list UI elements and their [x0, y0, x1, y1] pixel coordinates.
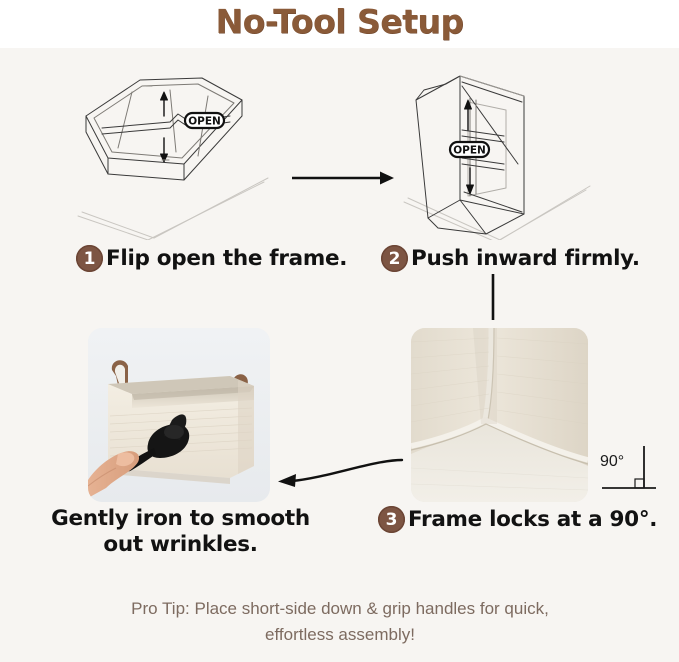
step-1-illustration: OPEN: [74, 72, 274, 245]
step-1-badge: 1: [76, 245, 103, 272]
iron-caption-line-1: Gently iron to smooth: [28, 506, 333, 532]
corner-photo: [411, 328, 588, 502]
iron-photo: [88, 328, 270, 502]
open-label-step-1: OPEN: [185, 113, 224, 128]
iron-caption-line-2: out wrinkles.: [28, 532, 333, 558]
pro-tip-line-1: Pro Tip: Place short-side down & grip ha…: [60, 596, 620, 622]
arrow-step2-to-step3: [486, 274, 500, 327]
infographic-page: No-Tool Setup: [0, 0, 679, 662]
step-1-caption: 1 Flip open the frame.: [76, 245, 347, 272]
pro-tip: Pro Tip: Place short-side down & grip ha…: [60, 596, 620, 648]
step-3-badge: 3: [378, 506, 405, 533]
step-2-illustration: OPEN: [400, 72, 600, 245]
svg-text:OPEN: OPEN: [453, 145, 486, 157]
arrow-step1-to-step2: [292, 168, 396, 193]
svg-text:OPEN: OPEN: [188, 116, 221, 128]
page-title: No-Tool Setup: [0, 0, 679, 44]
step-2-caption: 2 Push inward firmly.: [381, 245, 640, 272]
step-2-caption-text: Push inward firmly.: [411, 246, 640, 271]
step-1-caption-text: Flip open the frame.: [106, 246, 347, 271]
step-3-caption: 3 Frame locks at a 90°.: [378, 506, 657, 533]
step-3-caption-text: Frame locks at a 90°.: [408, 507, 657, 532]
angle-annotation: 90°: [600, 446, 658, 494]
open-label-step-2: OPEN: [450, 142, 489, 157]
pro-tip-line-2: effortless assembly!: [60, 622, 620, 648]
iron-step-caption: Gently iron to smooth out wrinkles.: [28, 506, 333, 558]
arrow-step3-to-iron: [276, 456, 404, 497]
step-2-badge: 2: [381, 245, 408, 272]
